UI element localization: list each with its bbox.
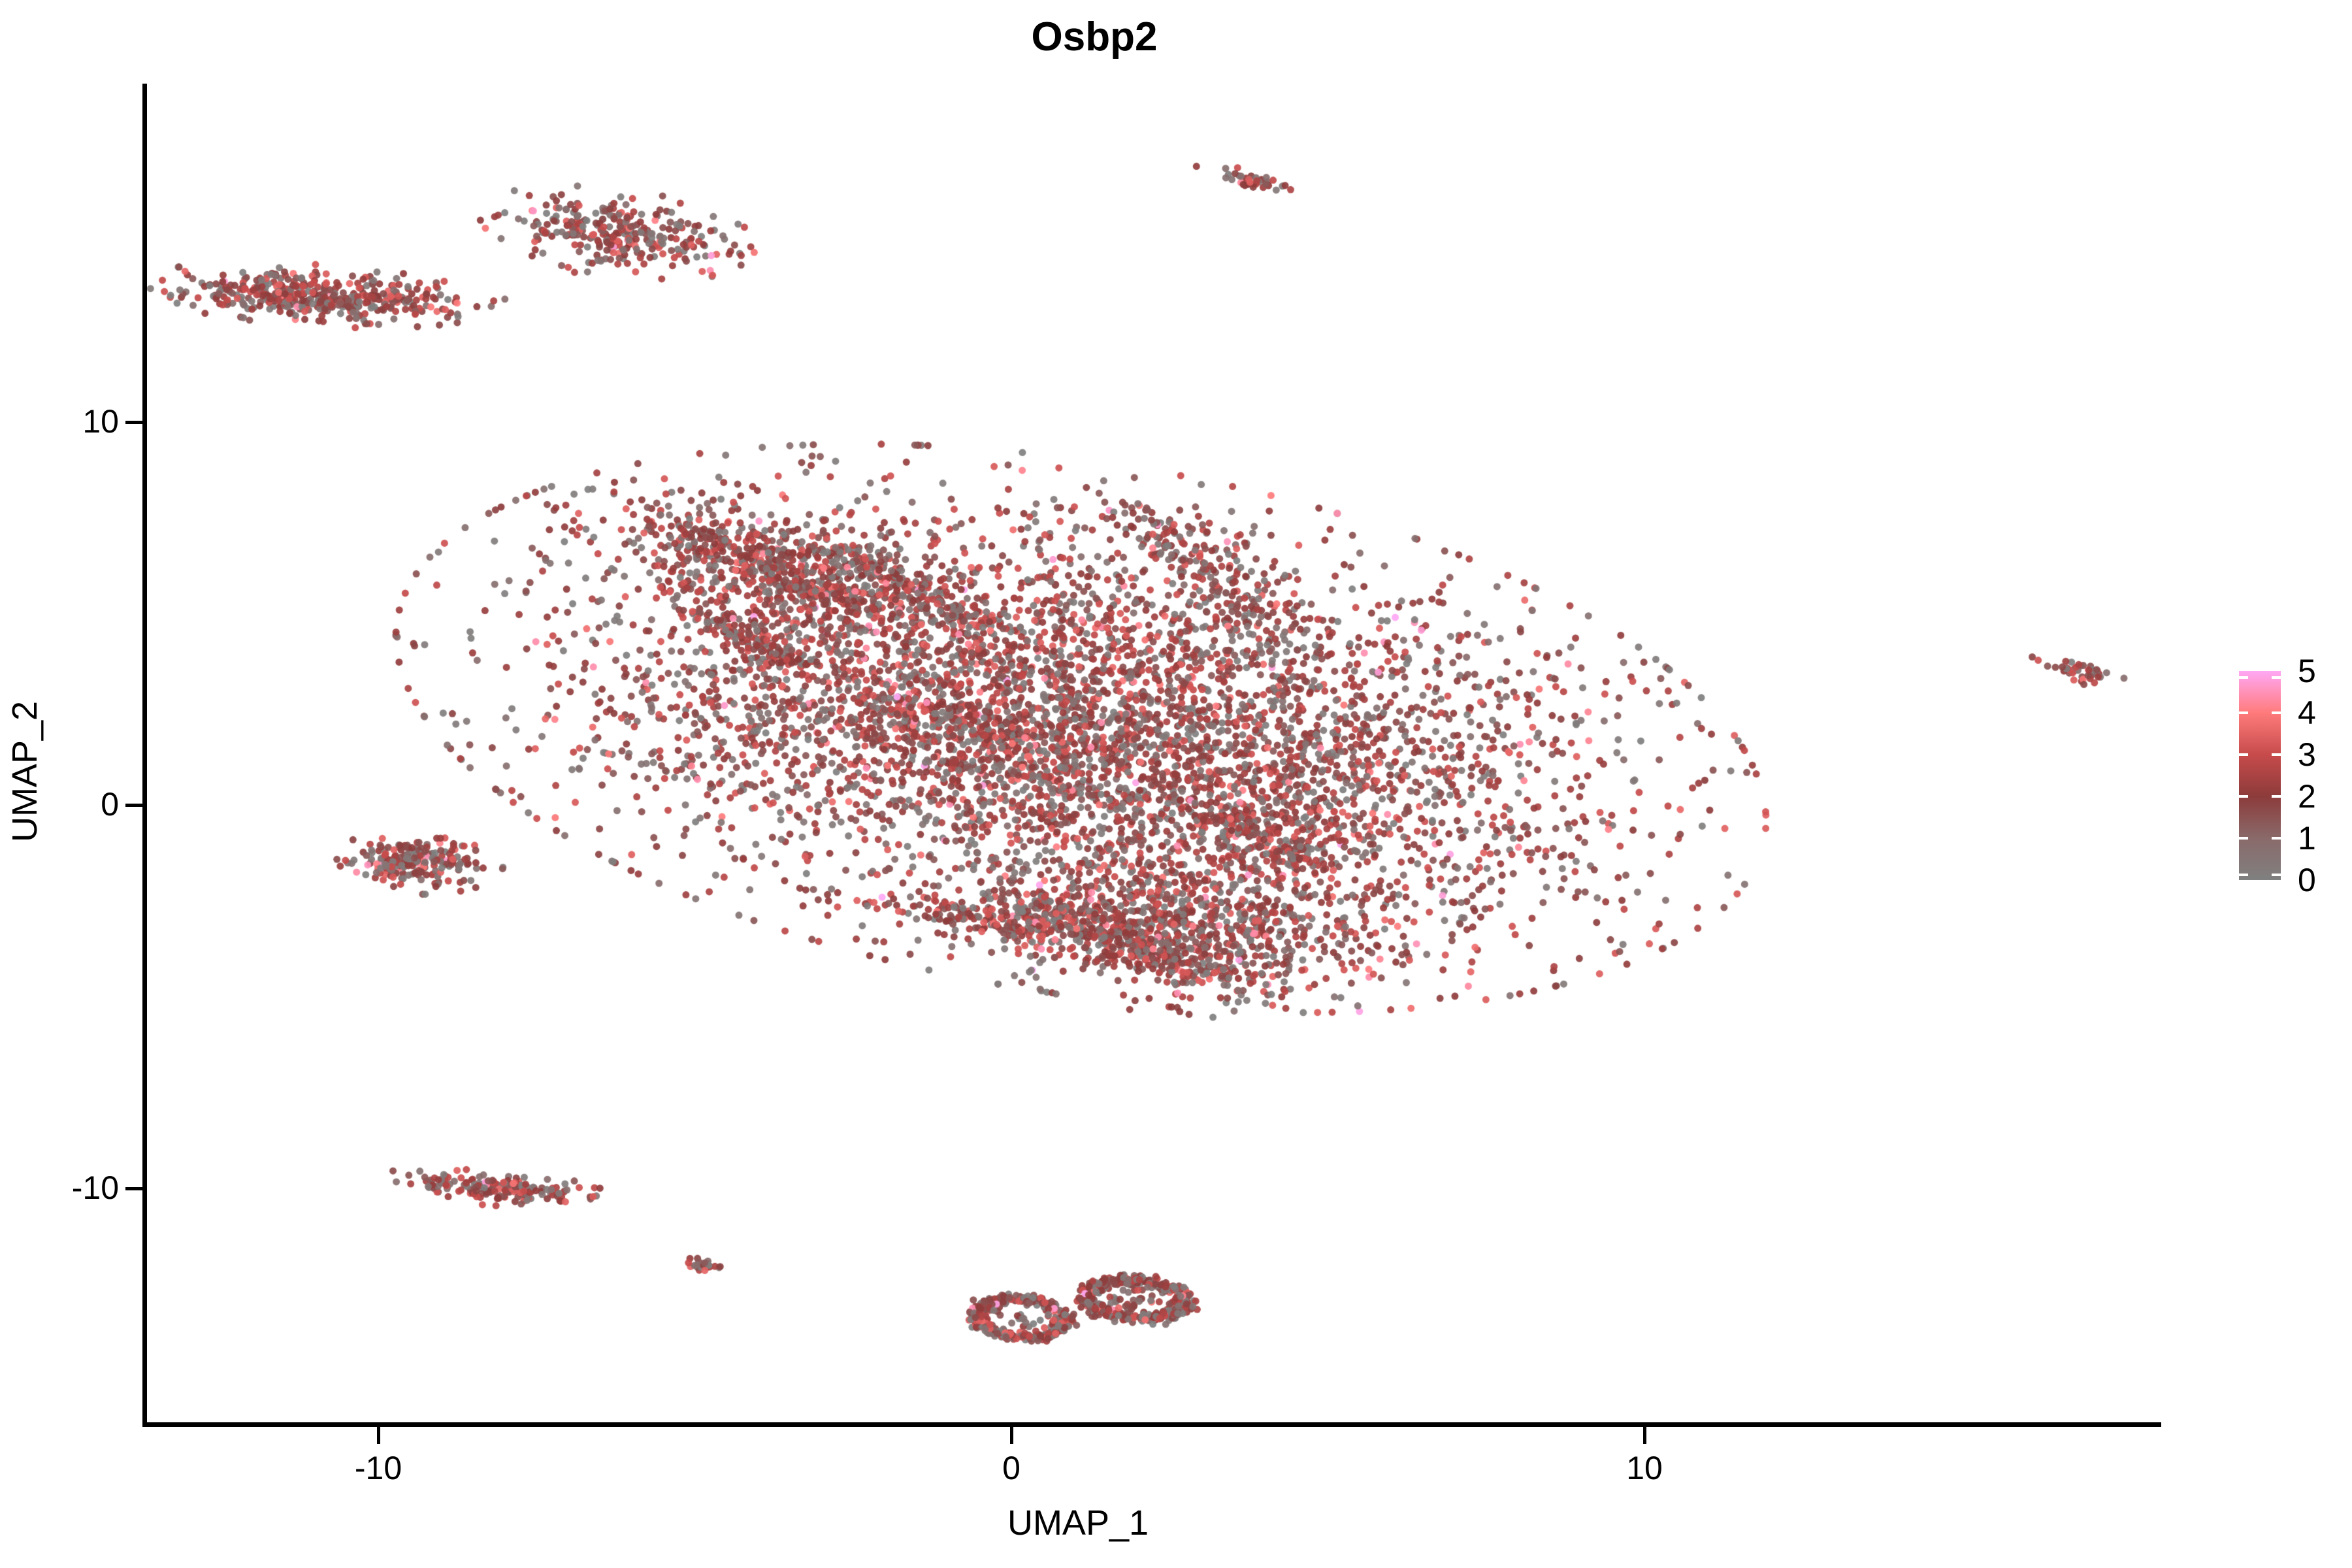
color-legend xyxy=(2239,671,2281,880)
scatter-canvas xyxy=(0,0,2352,1568)
y-tick-label: -10 xyxy=(0,1169,119,1207)
x-tick-mark xyxy=(377,1427,380,1444)
colorbar-tick-mark xyxy=(2239,676,2248,679)
colorbar-tick-mark xyxy=(2239,874,2248,876)
colorbar-tick-mark xyxy=(2272,874,2281,876)
colorbar-gradient xyxy=(2239,671,2281,880)
colorbar-tick-mark xyxy=(2272,837,2281,840)
umap-feature-plot: Osbp2 -10010 -10010 UMAP_1 UMAP_2 012345 xyxy=(0,0,2352,1568)
colorbar-label: 1 xyxy=(2298,822,2316,855)
colorbar-tick-mark xyxy=(2272,753,2281,756)
colorbar-tick-mark xyxy=(2239,711,2248,714)
y-tick-mark xyxy=(125,421,142,424)
colorbar-label: 0 xyxy=(2298,864,2316,896)
x-tick-label: 0 xyxy=(946,1449,1077,1487)
x-tick-mark xyxy=(1010,1427,1013,1444)
colorbar-label: 4 xyxy=(2298,696,2316,729)
y-tick-mark xyxy=(125,1187,142,1190)
y-axis-line xyxy=(142,84,147,1426)
colorbar-label: 2 xyxy=(2298,780,2316,813)
x-tick-label: -10 xyxy=(313,1449,444,1487)
colorbar-tick-mark xyxy=(2239,753,2248,756)
colorbar-tick-mark xyxy=(2239,837,2248,840)
colorbar-tick-mark xyxy=(2272,676,2281,679)
colorbar-label: 3 xyxy=(2298,738,2316,771)
y-axis-label: UMAP_2 xyxy=(5,576,45,968)
x-tick-label: 10 xyxy=(1579,1449,1710,1487)
y-tick-label: 10 xyxy=(0,402,119,440)
x-axis-line xyxy=(142,1422,2161,1427)
x-tick-mark xyxy=(1643,1427,1646,1444)
colorbar-tick-mark xyxy=(2272,795,2281,798)
y-tick-mark xyxy=(125,804,142,807)
colorbar-tick-mark xyxy=(2272,711,2281,714)
colorbar-label: 5 xyxy=(2298,655,2316,687)
x-axis-label: UMAP_1 xyxy=(0,1503,2156,1543)
colorbar-tick-mark xyxy=(2239,795,2248,798)
